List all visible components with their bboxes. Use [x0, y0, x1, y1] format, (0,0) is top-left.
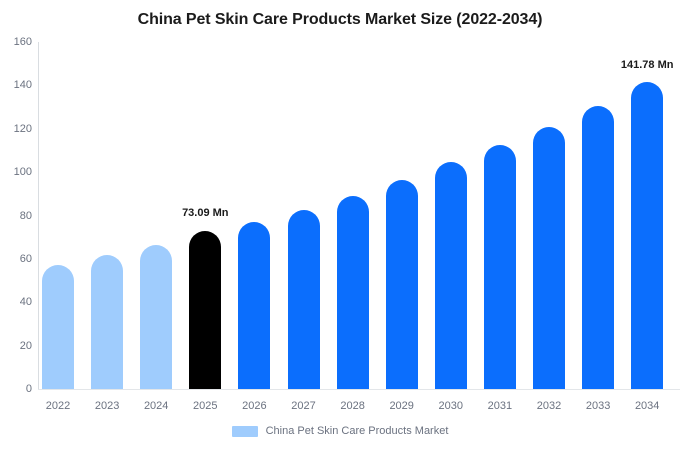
- x-axis-tick-2034: 2034: [620, 400, 674, 412]
- bar-value-label-2025: 73.09 Mn: [178, 207, 232, 219]
- bar-2028[interactable]: [337, 196, 369, 389]
- x-axis-tick-2033: 2033: [571, 400, 625, 412]
- bar-2032[interactable]: [533, 127, 565, 389]
- bar-2025[interactable]: [189, 231, 221, 390]
- bar-value-label-2034: 141.78 Mn: [620, 59, 674, 71]
- x-axis-tick-2022: 2022: [31, 400, 85, 412]
- chart-legend: China Pet Skin Care Products Market: [0, 425, 680, 437]
- legend-label: China Pet Skin Care Products Market: [266, 425, 449, 437]
- bar-chart: China Pet Skin Care Products Market Size…: [0, 0, 680, 450]
- x-axis-tick-2023: 2023: [80, 400, 134, 412]
- x-axis-tick-2029: 2029: [375, 400, 429, 412]
- bar-2033[interactable]: [582, 106, 614, 389]
- bar-2027[interactable]: [288, 210, 320, 389]
- bar-2026[interactable]: [238, 222, 270, 389]
- bar-2024[interactable]: [140, 245, 172, 389]
- x-axis-tick-2032: 2032: [522, 400, 576, 412]
- bars-layer: 202220232024202573.09 Mn2026202720282029…: [0, 0, 680, 450]
- x-axis-tick-2030: 2030: [424, 400, 478, 412]
- x-axis-tick-2028: 2028: [326, 400, 380, 412]
- bar-2030[interactable]: [435, 162, 467, 389]
- x-axis-tick-2027: 2027: [277, 400, 331, 412]
- x-axis-tick-2024: 2024: [129, 400, 183, 412]
- bar-2031[interactable]: [484, 145, 516, 389]
- legend-swatch: [232, 426, 258, 437]
- bar-2034[interactable]: [631, 82, 663, 389]
- x-axis-tick-2031: 2031: [473, 400, 527, 412]
- x-axis-tick-2026: 2026: [227, 400, 281, 412]
- bar-2022[interactable]: [42, 265, 74, 389]
- x-axis-tick-2025: 2025: [178, 400, 232, 412]
- bar-2023[interactable]: [91, 255, 123, 389]
- bar-2029[interactable]: [386, 180, 418, 389]
